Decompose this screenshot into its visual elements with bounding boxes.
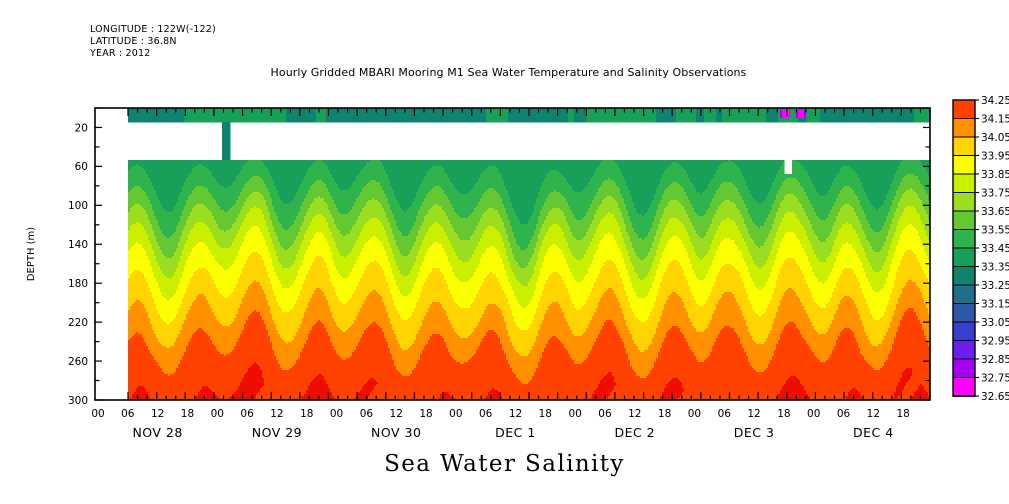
x-day-label: DEC 4 — [853, 425, 894, 440]
colorbar-swatch — [953, 267, 975, 286]
colorbar-swatch — [953, 137, 975, 156]
colorbar-swatch — [953, 100, 975, 119]
colorbar-swatch — [953, 156, 975, 175]
colorbar-tick-label: 34.15 — [981, 114, 1009, 126]
y-tick-label: 100 — [68, 200, 88, 212]
colorbar-tick-label: 33.35 — [981, 262, 1009, 274]
x-hour-label: 06 — [479, 408, 493, 420]
x-hour-label: 12 — [628, 408, 641, 420]
colorbar-swatch — [953, 119, 975, 138]
x-hour-label: 00 — [91, 408, 104, 420]
colorbar-swatch — [953, 304, 975, 323]
x-hour-label: 00 — [807, 408, 820, 420]
x-hour-label: 18 — [300, 408, 313, 420]
colorbar: 34.2534.1534.0533.9533.8533.7533.6533.55… — [953, 95, 1009, 403]
colorbar-tick-label: 33.95 — [981, 151, 1009, 163]
x-hour-label: 06 — [121, 408, 135, 420]
x-hour-label: 06 — [837, 408, 851, 420]
colorbar-swatch — [953, 322, 975, 341]
colorbar-tick-label: 33.65 — [981, 206, 1009, 218]
colorbar-tick-label: 32.65 — [981, 391, 1009, 403]
x-hour-label: 06 — [598, 408, 612, 420]
colorbar-swatch — [953, 248, 975, 267]
y-tick-label: 180 — [68, 278, 88, 290]
colorbar-tick-label: 32.85 — [981, 354, 1009, 366]
y-tick-label: 260 — [68, 356, 88, 368]
colorbar-swatch — [953, 341, 975, 360]
x-day-label: DEC 2 — [614, 425, 655, 440]
variable-title: Sea Water Salinity — [0, 451, 1009, 477]
colorbar-tick-label: 33.75 — [981, 188, 1009, 200]
x-hour-label: 12 — [390, 408, 403, 420]
y-tick-label: 220 — [68, 317, 88, 329]
x-hour-label: 12 — [867, 408, 880, 420]
x-hour-label: 06 — [360, 408, 374, 420]
colorbar-tick-label: 33.05 — [981, 317, 1009, 329]
x-hour-label: 06 — [240, 408, 254, 420]
x-hour-label: 18 — [419, 408, 432, 420]
x-day-label: NOV 29 — [252, 425, 302, 440]
x-hour-label: 18 — [896, 408, 909, 420]
x-day-label: NOV 28 — [132, 425, 182, 440]
colorbar-swatch — [953, 174, 975, 193]
x-day-label: DEC 1 — [495, 425, 536, 440]
colorbar-tick-label: 33.45 — [981, 243, 1009, 255]
colorbar-swatch — [953, 230, 975, 249]
colorbar-tick-label: 32.75 — [981, 373, 1009, 385]
y-axis-label: DEPTH (m) — [26, 227, 37, 281]
x-hour-label: 12 — [509, 408, 522, 420]
colorbar-tick-label: 34.05 — [981, 132, 1009, 144]
x-day-label: NOV 30 — [371, 425, 421, 440]
colorbar-tick-label: 33.25 — [981, 280, 1009, 292]
salinity-field — [128, 108, 931, 401]
colorbar-swatch — [953, 378, 975, 397]
y-tick-label: 300 — [68, 395, 88, 407]
x-hour-label: 12 — [270, 408, 283, 420]
colorbar-swatch — [953, 359, 975, 378]
colorbar-tick-label: 33.15 — [981, 299, 1009, 311]
x-hour-label: 00 — [330, 408, 343, 420]
x-hour-label: 00 — [449, 408, 462, 420]
y-tick-label: 20 — [75, 122, 88, 134]
salinity-contour-plot: 2060100140180220260300DEPTH (m)000612180… — [0, 0, 1009, 504]
left-data-margin — [96, 109, 128, 400]
x-hour-label: 18 — [777, 408, 790, 420]
x-hour-label: 00 — [688, 408, 701, 420]
colorbar-swatch — [953, 285, 975, 304]
y-tick-label: 140 — [68, 239, 88, 251]
x-hour-label: 12 — [151, 408, 164, 420]
colorbar-tick-label: 33.85 — [981, 169, 1009, 181]
colorbar-swatch — [953, 193, 975, 212]
x-hour-label: 06 — [718, 408, 732, 420]
x-hour-label: 00 — [211, 408, 224, 420]
x-hour-label: 12 — [747, 408, 760, 420]
colorbar-tick-label: 33.55 — [981, 225, 1009, 237]
colorbar-tick-label: 34.25 — [981, 95, 1009, 107]
x-hour-label: 18 — [658, 408, 671, 420]
x-hour-label: 00 — [568, 408, 581, 420]
colorbar-swatch — [953, 211, 975, 230]
x-hour-label: 18 — [181, 408, 194, 420]
colorbar-tick-label: 32.95 — [981, 336, 1009, 348]
y-tick-label: 60 — [75, 161, 88, 173]
x-day-label: DEC 3 — [734, 425, 775, 440]
x-hour-label: 18 — [539, 408, 552, 420]
